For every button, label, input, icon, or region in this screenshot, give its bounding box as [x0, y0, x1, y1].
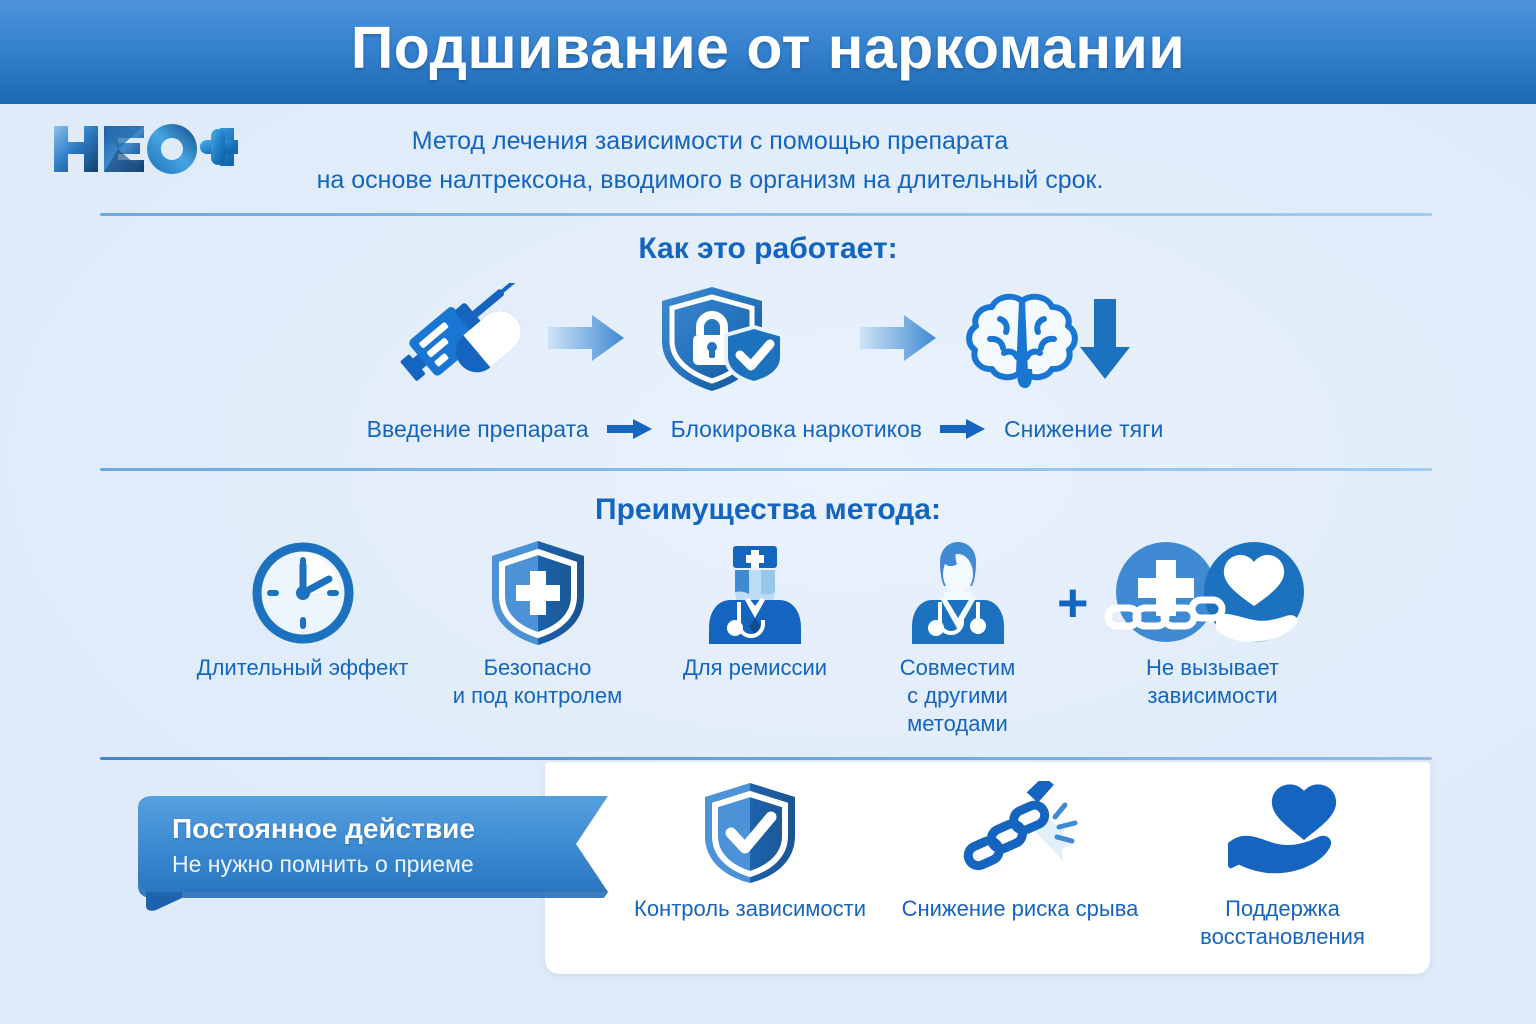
how-step-1-label: Введение препарата	[367, 416, 589, 443]
label-arrow-2-icon	[940, 418, 986, 440]
label-arrow-1-icon	[607, 418, 653, 440]
syringe-pill-icon	[378, 283, 528, 398]
divider-middle	[100, 468, 1432, 471]
page-header: Подшивание от наркомании	[0, 0, 1536, 104]
benefits-heading: Преимущества метода:	[0, 493, 1536, 527]
benefit-item: Для ремиссии	[655, 540, 855, 682]
card-item: Контроль зависимости	[620, 780, 880, 923]
shield-lock-check-icon	[650, 283, 800, 398]
benefit-item: Безопасно и под контролем	[430, 540, 645, 710]
chain-heart-hand-icon	[1060, 540, 1365, 646]
ribbon-subtitle: Не нужно помнить о приеме	[172, 848, 572, 880]
shield-check-icon	[620, 780, 880, 885]
clock-icon	[185, 540, 420, 646]
brain-down-arrow-icon	[960, 283, 1135, 398]
intro-line-2: на основе налтрексона, вводимого в орган…	[270, 161, 1150, 200]
divider-top	[100, 213, 1432, 216]
broken-chain-icon	[890, 780, 1150, 885]
benefits-list: Длительный эффект Безопасно и под контро…	[185, 540, 1365, 740]
ribbon-text: Постоянное действие Не нужно помнить о п…	[172, 812, 572, 880]
card-item: Поддержка восстановления	[1170, 780, 1395, 951]
how-it-works-labels: Введение препарата Блокировка наркотиков…	[300, 412, 1230, 446]
intro-line-1: Метод лечения зависимости с помощью преп…	[270, 122, 1150, 161]
doctor-icon	[655, 540, 855, 646]
infographic-page: Подшивание от наркомании	[0, 0, 1536, 1024]
shield-cross-icon	[430, 540, 645, 646]
card-label: Снижение риска срыва	[890, 895, 1150, 923]
how-it-works-heading: Как это работает:	[0, 232, 1536, 266]
card-label: Контроль зависимости	[620, 895, 880, 923]
nurse-stethoscope-icon	[860, 540, 1055, 646]
how-step-3-label: Снижение тяги	[1004, 416, 1163, 443]
bottom-card-items: Контроль зависимости	[600, 780, 1430, 970]
flow-arrow-2-icon	[860, 313, 938, 368]
card-label: Поддержка восстановления	[1170, 895, 1395, 951]
flow-arrow-1-icon	[548, 313, 626, 368]
hand-heart-icon	[1170, 780, 1395, 885]
benefit-label: Для ремиссии	[655, 654, 855, 682]
card-item: Снижение риска срыва	[890, 780, 1150, 923]
benefit-label: Не вызывает зависимости	[1060, 654, 1365, 710]
benefit-item: Не вызывает зависимости	[1060, 540, 1365, 710]
benefit-label: Совместим с другими методами	[860, 654, 1055, 738]
ribbon-title: Постоянное действие	[172, 812, 572, 846]
how-it-works-icons	[330, 283, 1200, 393]
intro-text: Метод лечения зависимости с помощью преп…	[270, 122, 1150, 200]
neo-plus-logo[interactable]	[48, 118, 238, 180]
plus-sign: +	[1057, 576, 1089, 630]
divider-bottom	[100, 757, 1432, 760]
benefit-label: Длительный эффект	[185, 654, 420, 682]
benefit-item: Длительный эффект	[185, 540, 420, 682]
benefit-item: Совместим с другими методами	[860, 540, 1055, 738]
page-title: Подшивание от наркомании	[0, 14, 1536, 82]
how-step-2-label: Блокировка наркотиков	[671, 416, 922, 443]
benefit-label: Безопасно и под контролем	[430, 654, 645, 710]
